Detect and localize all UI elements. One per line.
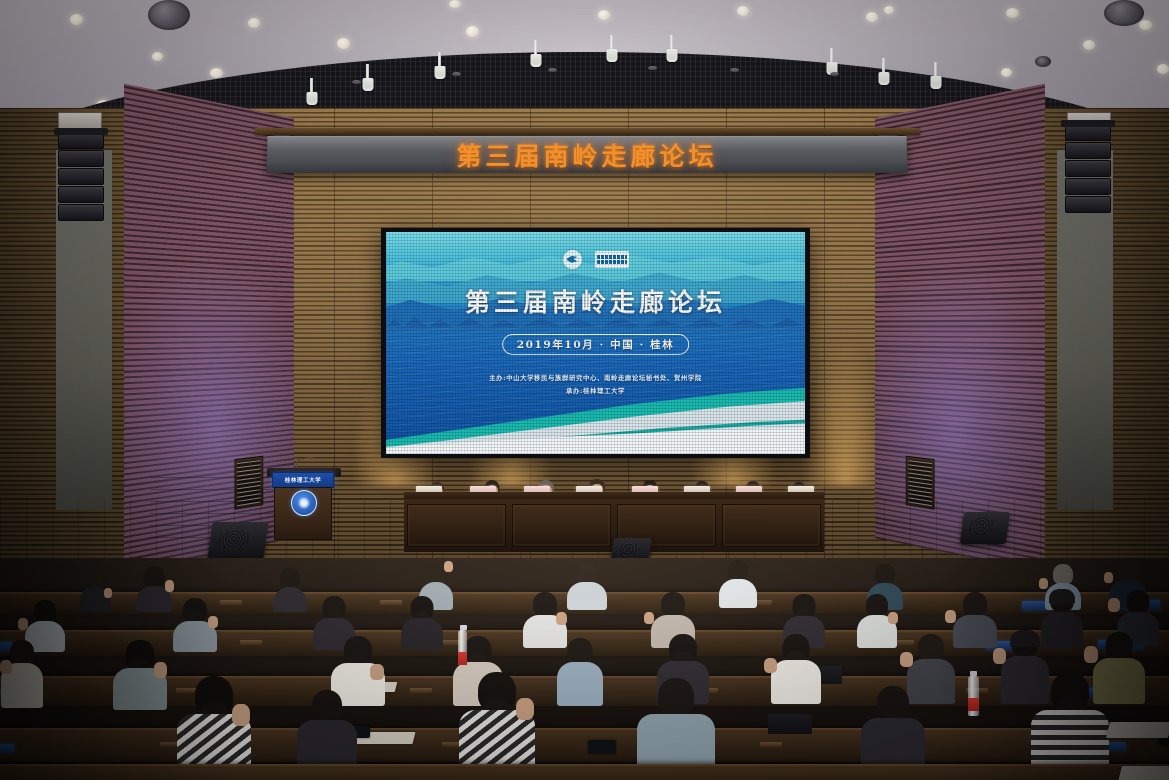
ceiling-downlight	[1001, 68, 1012, 77]
head	[568, 638, 593, 664]
panel-table-panel	[407, 504, 506, 547]
head	[877, 686, 909, 720]
clapping-hand	[444, 561, 453, 572]
clapping-hand	[993, 648, 1006, 664]
clapping-hand	[1104, 572, 1113, 583]
stage-spotlight	[878, 58, 889, 72]
hall-banner-text: 第三届南岭走廊论坛	[456, 137, 717, 173]
university-seal-emblem	[291, 490, 317, 516]
head	[1106, 632, 1133, 660]
stage-spotlight	[930, 62, 941, 76]
line-array-speaker	[1065, 124, 1111, 214]
head	[1118, 560, 1139, 582]
ceiling-downlight	[248, 18, 260, 28]
torso	[771, 660, 821, 704]
clapping-hand	[370, 664, 384, 680]
stage-spotlight	[530, 40, 541, 54]
cap	[1010, 630, 1040, 647]
ceiling-speaker	[1035, 56, 1051, 67]
head	[533, 592, 557, 617]
audience-member	[770, 634, 822, 704]
seated-audience	[0, 558, 1169, 780]
clapping-hand	[1084, 646, 1098, 663]
stage-spotlight	[434, 52, 445, 66]
audience-member	[556, 638, 604, 706]
slide-title: 第三届南岭走廊论坛	[386, 283, 805, 319]
audience-member	[458, 672, 536, 770]
ceiling-downlight	[152, 52, 163, 61]
head	[34, 600, 56, 623]
led-screen-bezel: 第三届南岭走廊论坛 2019年10月 · 中国 · 桂林 主办:中山大学移民与族…	[381, 228, 810, 458]
institute-circle-logo	[563, 250, 582, 269]
ceiling-fixture	[352, 80, 361, 84]
clapping-hand	[516, 698, 534, 720]
audience-member	[952, 592, 998, 648]
ceiling-speaker	[148, 0, 190, 30]
ceiling-speaker	[1104, 0, 1144, 26]
panel-table-panel	[512, 504, 611, 547]
stage-spotlight	[606, 35, 617, 49]
head	[577, 562, 598, 584]
audience-member	[718, 560, 758, 608]
torso	[567, 582, 607, 610]
audience-member	[856, 594, 898, 648]
laptop	[768, 714, 812, 734]
clapping-hand	[556, 612, 567, 625]
head	[963, 592, 987, 617]
ceiling-fixture	[452, 72, 461, 76]
torso	[953, 615, 997, 648]
head	[918, 634, 944, 661]
audience-member	[135, 566, 173, 612]
clapping-hand	[154, 662, 167, 678]
clapping-hand	[644, 612, 654, 624]
clapping-hand	[888, 612, 898, 624]
ceiling-fixture	[648, 66, 657, 70]
slide-logo-row	[386, 250, 805, 269]
ceiling-downlight	[466, 26, 479, 37]
head	[1053, 564, 1073, 585]
led-presentation-screen[interactable]: 第三届南岭走廊论坛 2019年10月 · 中国 · 桂林 主办:中山大学移民与族…	[386, 232, 805, 454]
ceiling-downlight	[1139, 20, 1152, 30]
ceiling-downlight	[449, 0, 461, 8]
audience-member	[636, 678, 716, 772]
clapping-hand	[1039, 578, 1048, 589]
clapping-hand	[208, 616, 218, 628]
ceiling-downlight	[337, 38, 350, 49]
ceiling-fixture	[548, 68, 557, 72]
stage-spotlight	[362, 64, 373, 78]
ceiling-downlight	[1157, 64, 1169, 74]
ceiling-fixture	[730, 68, 739, 72]
stage-spotlight	[826, 48, 837, 62]
clapping-hand	[0, 660, 12, 674]
cap	[1049, 589, 1075, 604]
hall-banner: 第三届南岭走廊论坛	[267, 136, 908, 173]
head	[10, 640, 34, 665]
audience-member	[400, 596, 444, 650]
ceiling-fixture	[830, 72, 839, 76]
head	[312, 690, 342, 722]
line-array-speaker	[58, 132, 104, 222]
clapping-hand	[1108, 598, 1120, 612]
banner-support-rail	[255, 128, 920, 135]
water-bottle	[458, 630, 467, 660]
torso	[719, 579, 757, 608]
ceiling-downlight	[210, 68, 223, 78]
audience-member	[296, 690, 358, 772]
torso	[557, 662, 603, 706]
lectern[interactable]: 桂林理工大学	[270, 468, 338, 540]
lectern-sign-text: 桂林理工大学	[285, 476, 322, 484]
audience-member	[860, 686, 926, 772]
clapping-hand	[764, 658, 777, 673]
audience-member	[566, 562, 608, 610]
clapping-hand	[232, 704, 250, 726]
stage-monitor-speaker	[960, 512, 1010, 544]
audience-member	[112, 640, 168, 710]
head	[866, 594, 888, 617]
audience-member	[0, 640, 44, 708]
audience-member	[176, 676, 252, 772]
stage-spotlight	[666, 35, 677, 49]
smartphone	[588, 740, 616, 754]
torso	[273, 587, 307, 612]
slide-date-badge: 2019年10月 · 中国 · 桂林	[502, 334, 690, 355]
paper-handout	[1106, 722, 1169, 738]
clapping-hand	[165, 580, 174, 592]
audience-desk-row-front	[0, 764, 1169, 780]
head	[280, 568, 300, 589]
audience-member	[272, 568, 308, 612]
ceiling-downlight	[1083, 40, 1095, 50]
audience-member	[1030, 672, 1110, 770]
head	[658, 678, 694, 716]
clapping-hand	[104, 588, 112, 598]
ceiling-downlight	[598, 10, 610, 20]
stage-spotlight	[306, 78, 317, 92]
clapping-hand	[18, 618, 28, 630]
water-bottle	[968, 676, 979, 716]
head	[728, 560, 748, 581]
ceiling-downlight	[70, 14, 83, 25]
torso	[1031, 710, 1109, 770]
head	[875, 564, 895, 585]
ceiling-downlight	[866, 12, 878, 22]
forum-wordmark-logo	[595, 251, 629, 268]
clapping-hand	[945, 610, 956, 623]
stage-monitor-speaker	[207, 522, 268, 560]
clapping-hand	[900, 652, 913, 667]
audience-member	[78, 568, 112, 612]
panel-table-panel	[722, 504, 821, 547]
head	[86, 568, 104, 588]
slide-organizer-line-1: 主办:中山大学移民与族群研究中心、南岭走廊论坛秘书处、贺州学院	[386, 372, 805, 385]
torso	[401, 618, 443, 650]
head	[661, 592, 685, 617]
audience-member	[172, 598, 218, 652]
ceiling-downlight	[737, 6, 749, 16]
ceiling-downlight	[1006, 8, 1019, 18]
head	[427, 564, 446, 584]
paper-handout	[1118, 766, 1169, 780]
head	[144, 566, 165, 588]
ceiling-downlight	[884, 6, 894, 14]
head	[1127, 590, 1150, 614]
lectern-sign: 桂林理工大学	[272, 472, 334, 488]
auditorium-photo: 第三届南岭走廊论坛 第三届南岭走廊论坛 2019年10月 · 中国 · 桂林 主…	[0, 0, 1169, 780]
